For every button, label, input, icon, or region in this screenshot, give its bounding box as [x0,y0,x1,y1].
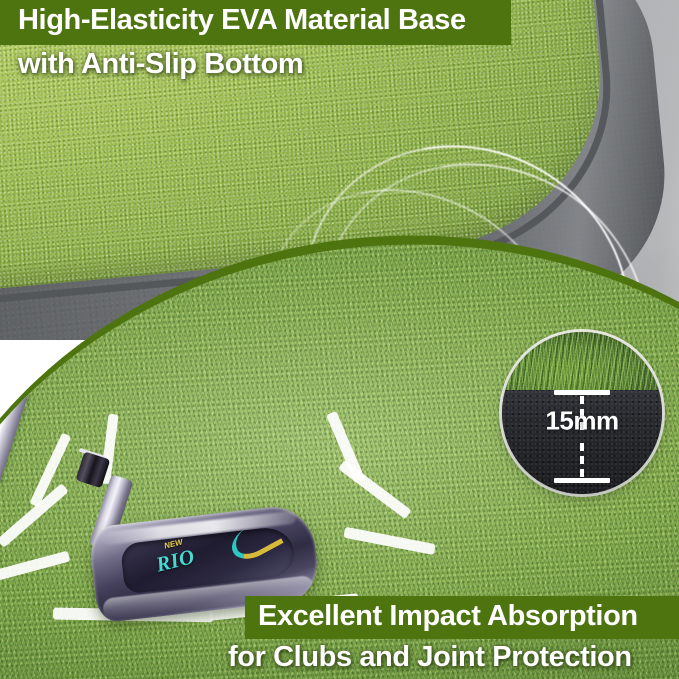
inset-turf-layer [502,332,662,390]
headline-line-2: with Anti-Slip Bottom [18,48,303,81]
thickness-callout-inset: 15mm [502,332,662,494]
measurement-dashed-line-lower [580,443,584,477]
measurement-cap-top [554,390,610,395]
product-feature-poster: NEW RIO 15mm High-Elasticity EVA Materia… [0,0,679,679]
tagline-line-1: Excellent Impact Absorption [258,600,638,633]
tagline-line-2: for Clubs and Joint Protection [228,641,632,674]
measurement-cap-bottom [554,478,610,483]
headline-line-1: High-Elasticity EVA Material Base [18,4,466,37]
thickness-value-label: 15mm [502,406,662,437]
